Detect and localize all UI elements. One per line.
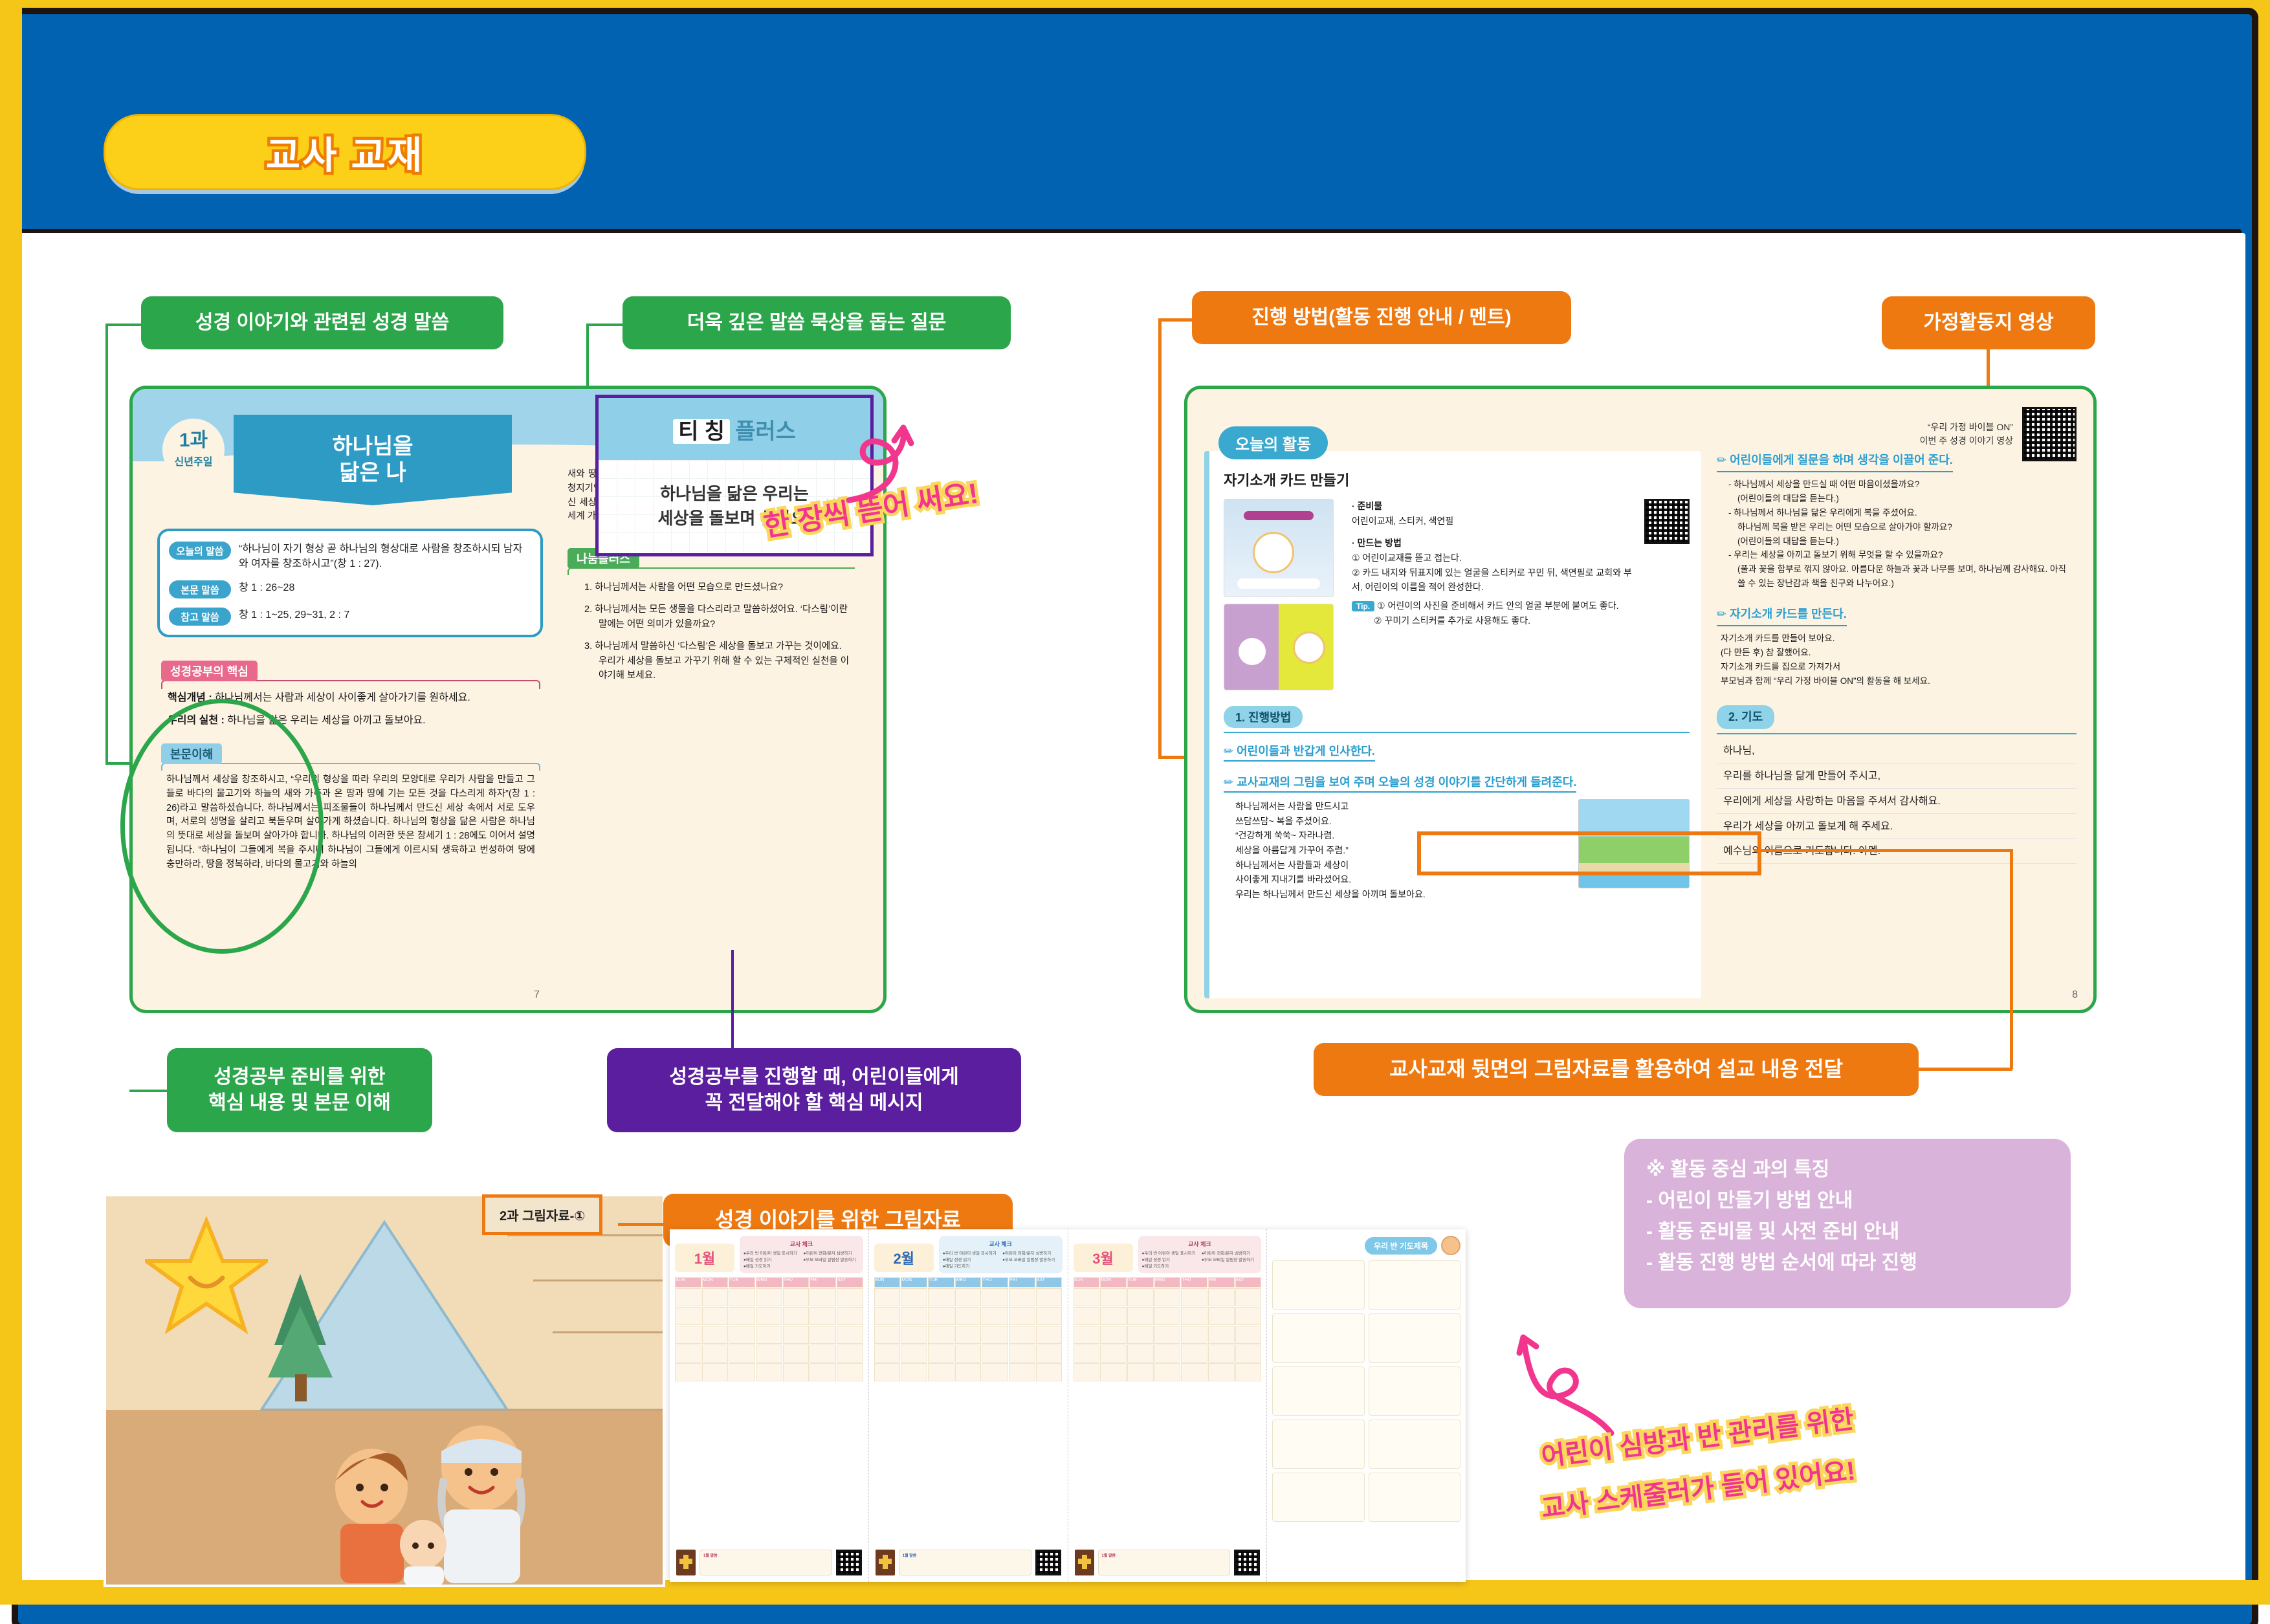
prayer-card[interactable] <box>1369 1313 1460 1363</box>
pink-arrow-icon-top <box>841 424 919 508</box>
calendar-verse-label: 1월 말씀 <box>1102 1552 1227 1558</box>
calendar-cell[interactable] <box>1036 1288 1063 1306</box>
calendar-cell[interactable] <box>1127 1307 1154 1325</box>
card-line: 자기소개 카드를 만들어 보아요. <box>1721 631 2077 646</box>
calendar-cell[interactable] <box>874 1363 901 1381</box>
calendar-cell[interactable] <box>1208 1288 1235 1306</box>
calendar-cell[interactable] <box>928 1344 954 1363</box>
weekday-head: THU <box>982 1277 1008 1288</box>
activity-thumbnails <box>1224 499 1340 690</box>
prayer-card[interactable] <box>1272 1366 1364 1416</box>
calendar-cell[interactable] <box>901 1326 927 1344</box>
weekday-head: SAT <box>1235 1277 1262 1288</box>
calendar-cell[interactable] <box>837 1307 863 1325</box>
share-question: 1. 하나님께서는 사람을 어떤 모습으로 만드셨나요? <box>584 580 852 595</box>
prayer-card[interactable] <box>1369 1473 1460 1522</box>
verse-row: 오늘의 말씀 “하나님이 자기 형상 곧 하나님의 형상대로 사람을 창조하시되… <box>169 542 531 571</box>
calendar-cell[interactable] <box>729 1344 755 1363</box>
story-line: 쓰담쓰담~ 복을 주셨어요. <box>1235 814 1568 829</box>
calendar-cell[interactable] <box>702 1307 729 1325</box>
story-line: 하나님께서는 사람을 만드시고 <box>1235 799 1568 814</box>
leader-line-bible-verse-v <box>105 324 108 763</box>
left-yellow-strip <box>0 0 22 1605</box>
right-column-guide: ✏ 어린이들에게 질문을 하며 생각을 이끌어 준다. - 하나님께서 세상을 … <box>1717 451 2077 998</box>
calendar-cell[interactable] <box>1036 1307 1063 1325</box>
pencil-icon: ✏ <box>1717 454 1726 466</box>
calendar-cell[interactable] <box>810 1288 836 1306</box>
leader-line-bible-verse <box>105 324 142 326</box>
calendar-cell[interactable] <box>1154 1344 1181 1363</box>
calendar-cell[interactable] <box>1181 1307 1207 1325</box>
calendar-cell[interactable] <box>901 1288 927 1306</box>
calendar-cell[interactable] <box>675 1344 701 1363</box>
calendar-cell[interactable] <box>1074 1344 1100 1363</box>
calendar-cell[interactable] <box>1154 1326 1181 1344</box>
card-line: 자기소개 카드를 집으로 가져가서 <box>1721 660 2077 674</box>
calendar-cell[interactable] <box>702 1344 729 1363</box>
calendar-cell[interactable] <box>1127 1288 1154 1306</box>
tip-label: Tip. <box>1352 601 1374 611</box>
share-question: 2. 하나님께서는 모든 생물을 다스리라고 말씀하셨어요. ‘다스림’이란 말… <box>584 602 852 631</box>
weekday-head: SUN <box>1074 1277 1100 1288</box>
calendar-cell[interactable] <box>1009 1307 1035 1325</box>
calendar-cell[interactable] <box>928 1288 954 1306</box>
card-line: 부모님과 함께 “우리 가정 바이블 ON”의 활동을 해 보세요. <box>1721 674 2077 688</box>
check-item: ●어린이 전화/문자 심방하기 <box>1002 1251 1058 1257</box>
calendar-month-page: 1월 교사 체크 ●우리 반 어린이 생일 표시하기 ●매일 성경 읽기 ●매일… <box>670 1229 869 1582</box>
prayer-card[interactable] <box>1369 1260 1460 1310</box>
calendar-cell[interactable] <box>1208 1326 1235 1344</box>
calendar-cell[interactable] <box>1100 1363 1127 1381</box>
calendar-cell[interactable] <box>783 1288 810 1306</box>
calendar-cell[interactable] <box>1074 1307 1100 1325</box>
verse-row: 참고 말씀 창 1 : 1~25, 29~31, 2 : 7 <box>169 608 531 626</box>
calendar-cell[interactable] <box>955 1326 982 1344</box>
weekday-head: TUE <box>928 1277 954 1288</box>
bible-picture-resource <box>104 1194 665 1587</box>
page-title: 교사 교재 <box>104 114 586 190</box>
calendar-cell[interactable] <box>783 1326 810 1344</box>
card-line: (다 만든 후) 참 잘했어요. <box>1721 646 2077 660</box>
activity-feature-item: - 어린이 만들기 방법 안내 <box>1646 1185 2049 1216</box>
callout-progress-method: 진행 방법(활동 진행 안내 / 멘트) <box>1192 291 1571 344</box>
qr-code-calendar[interactable] <box>1234 1550 1260 1575</box>
calendar-month-page: 2월 교사 체크 ●우리 반 어린이 생일 표시하기 ●매일 성경 읽기 ●매일… <box>869 1229 1068 1582</box>
calendar-cell[interactable] <box>702 1288 729 1306</box>
prayer-line: 우리가 세상을 아끼고 돌보게 해 주세요. <box>1717 814 2077 839</box>
method-label: · 만드는 방법 <box>1352 536 1633 551</box>
leader-line-question <box>586 324 623 326</box>
weekday-head: SAT <box>1036 1277 1063 1288</box>
calendar-cell[interactable] <box>1100 1344 1127 1363</box>
calendar-cell[interactable] <box>810 1326 836 1344</box>
calendar-check-title: 교사 체크 <box>1142 1240 1258 1248</box>
calendar-cell[interactable] <box>783 1363 810 1381</box>
calendar-cell[interactable] <box>729 1363 755 1381</box>
calendar-cell[interactable] <box>1181 1288 1207 1306</box>
lesson-title-line2: 닮은 나 <box>332 460 413 487</box>
prayer-line: 우리를 하나님을 닮게 만들어 주시고, <box>1717 763 2077 789</box>
calendar-cell[interactable] <box>1235 1288 1262 1306</box>
pencil-icon: ✏ <box>1224 776 1233 789</box>
calendar-cell[interactable] <box>756 1307 782 1325</box>
teaching-plus-title-main: 티 칭 <box>673 419 730 444</box>
calendar-cell[interactable] <box>729 1326 755 1344</box>
check-item: ●매일 성경 읽기 <box>1142 1257 1198 1264</box>
lesson-subtitle: 신년주일 <box>175 453 213 468</box>
calendar-cell[interactable] <box>928 1326 954 1344</box>
check-item: ●매일 기도하기 <box>744 1264 799 1270</box>
calendar-cell[interactable] <box>783 1344 810 1363</box>
prayer-card[interactable] <box>1369 1366 1460 1416</box>
weekday-head: FRI <box>810 1277 836 1288</box>
card-sample-front-image <box>1224 499 1334 597</box>
check-item: ●우리 반 어린이 생일 표시하기 <box>1142 1251 1198 1257</box>
calendar-cell[interactable] <box>756 1288 782 1306</box>
avatar <box>1441 1236 1460 1255</box>
right-page-number: 8 <box>2072 989 2078 1001</box>
qr-caption-line2: 이번 주 성경 이야기 영상 <box>1920 434 2013 448</box>
check-item: ●어린이 전화/문자 심방하기 <box>1202 1251 1257 1257</box>
prayer-card[interactable] <box>1272 1420 1364 1469</box>
weekday-head: FRI <box>1208 1277 1235 1288</box>
calendar-cell[interactable] <box>1154 1288 1181 1306</box>
method-step: ② 카드 내지와 뒤표지에 있는 얼굴을 스티커로 꾸민 뒤, 색연필로 교회와… <box>1352 565 1633 595</box>
prayer-card[interactable] <box>1272 1313 1364 1363</box>
calendar-cell[interactable] <box>810 1344 836 1363</box>
calendar-cell[interactable] <box>955 1363 982 1381</box>
highlight-rect-story-head <box>1417 831 1761 875</box>
guide-question: (풀과 꽃을 함부로 꺾지 않아요. 아름다운 하늘과 꽃과 나무를 보며, 하… <box>1728 562 2077 591</box>
leader-line-prep-core <box>129 1090 167 1092</box>
calendar-cell[interactable] <box>955 1344 982 1363</box>
weekday-head: MON <box>901 1277 927 1288</box>
calendar-cell[interactable] <box>1181 1363 1207 1381</box>
activity-feature-title: ※ 활동 중심 과의 특징 <box>1646 1154 2049 1185</box>
callout-home-activity-video: 가정활동지 영상 <box>1882 296 2095 349</box>
verse-text-ref: 창 1 : 1~25, 29~31, 2 : 7 <box>239 608 531 626</box>
weekday-head: FRI <box>1009 1277 1035 1288</box>
lesson-title-ribbon: 하나님을 닮은 나 <box>234 415 512 505</box>
calendar-cell[interactable] <box>1235 1344 1262 1363</box>
prayer-card[interactable] <box>1272 1260 1364 1310</box>
guide-question: 하나님께 복을 받은 우리는 어떤 모습으로 살아가야 할까요? <box>1728 520 2077 534</box>
calendar-cell[interactable] <box>675 1288 701 1306</box>
calendar-check-title: 교사 체크 <box>943 1240 1059 1248</box>
activity-feature-item: - 활동 진행 방법 순서에 따라 진행 <box>1646 1247 2049 1278</box>
activity-title: 자기소개 카드 만들기 <box>1224 469 1690 490</box>
calendar-cell[interactable] <box>729 1288 755 1306</box>
calendar-cell[interactable] <box>1208 1344 1235 1363</box>
highlight-circle-core <box>120 699 324 954</box>
calendar-cell[interactable] <box>955 1288 982 1306</box>
callout-deep-question: 더욱 깊은 말씀 묵상을 돕는 질문 <box>623 296 1011 349</box>
bible-icon <box>676 1550 696 1575</box>
calendar-grid: SUN MON TUE WED THU FRI SAT <box>1074 1277 1262 1381</box>
calendar-cell[interactable] <box>1208 1363 1235 1381</box>
calendar-month-label: 3월 <box>1074 1244 1133 1272</box>
calendar-cell[interactable] <box>756 1344 782 1363</box>
weekday-head: THU <box>783 1277 810 1288</box>
check-item: ●우리 반 어린이 생일 표시하기 <box>943 1251 998 1257</box>
bible-icon <box>876 1550 895 1575</box>
calendar-cell[interactable] <box>1181 1326 1207 1344</box>
teaching-plus-header: 티 칭플러스 <box>599 398 870 460</box>
check-item: ●매일 성경 읽기 <box>744 1257 799 1264</box>
qr-code-calendar[interactable] <box>836 1550 862 1575</box>
prayer-line: 우리에게 세상을 사랑하는 마음을 주셔서 감사해요. <box>1717 789 2077 814</box>
step2-label: 2. 기도 <box>1717 705 1774 729</box>
guide-question: (어린이들의 대답을 듣는다.) <box>1728 492 2077 506</box>
guide-question: - 하나님께서 세상을 만드실 때 어떤 마음이셨을까요? <box>1728 477 2077 492</box>
check-item: ●부모 모바일 알림장 발송하기 <box>1202 1257 1257 1264</box>
tip-item: ① 어린이의 사진을 준비해서 카드 안의 얼굴 부분에 붙여도 좋다. <box>1377 600 1618 611</box>
calendar-cell[interactable] <box>1235 1307 1262 1325</box>
check-item: ●매일 기도하기 <box>1142 1264 1198 1270</box>
calendar-cell[interactable] <box>901 1307 927 1325</box>
callout-key-message: 성경공부를 진행할 때, 어린이들에게 꼭 전달해야 할 핵심 메시지 <box>607 1048 1021 1132</box>
check-item: ●어린이 전화/문자 심방하기 <box>803 1251 859 1257</box>
weekday-head: MON <box>1100 1277 1127 1288</box>
check-item: ●매일 성경 읽기 <box>943 1257 998 1264</box>
today-activity-tag: 오늘의 활동 <box>1218 426 1328 459</box>
prayer-line: 하나님, <box>1717 738 2077 763</box>
leader-line-progress <box>1158 318 1193 322</box>
prayer-card[interactable] <box>1272 1473 1364 1522</box>
calendar-cell[interactable] <box>1074 1363 1100 1381</box>
calendar-cell[interactable] <box>1154 1307 1181 1325</box>
lesson-number: 1과 <box>179 431 208 450</box>
calendar-cell[interactable] <box>837 1326 863 1344</box>
calendar-month-label: 1월 <box>675 1244 734 1272</box>
teaching-plus-title: 티 칭플러스 <box>673 413 796 445</box>
activity-feature-item: - 활동 준비물 및 사전 준비 안내 <box>1646 1216 2049 1247</box>
weekday-head: SUN <box>874 1277 901 1288</box>
check-item: ●매일 기도하기 <box>943 1264 998 1270</box>
teaching-plus-title-sub: 플러스 <box>735 419 796 444</box>
calendar-cell[interactable] <box>1100 1326 1127 1344</box>
weekday-head: THU <box>1181 1277 1207 1288</box>
core-tag: 성경공부의 핵심 <box>161 661 258 681</box>
weekday-head: SAT <box>837 1277 863 1288</box>
calendar-cell[interactable] <box>874 1288 901 1306</box>
left-page-number: 7 <box>534 989 540 1001</box>
calendar-grid: SUN MON TUE WED THU FRI SAT <box>874 1277 1063 1381</box>
verse-tag-today: 오늘의 말씀 <box>169 542 231 560</box>
calendar-cell[interactable] <box>982 1363 1008 1381</box>
verse-box: 오늘의 말씀 “하나님이 자기 형상 곧 하나님의 형상대로 사람을 창조하시되… <box>157 529 543 637</box>
calendar-cell[interactable] <box>729 1307 755 1325</box>
pencil-head-story: ✏ 교사교재의 그림을 보여 주며 오늘의 성경 이야기를 간단하게 들려준다. <box>1224 773 1576 793</box>
weekday-head: TUE <box>729 1277 755 1288</box>
leader-line-back-picture-v <box>2010 849 2013 1069</box>
calendar-verse-label: 1월 말씀 <box>703 1552 828 1558</box>
calendar-grid: SUN MON TUE WED THU FRI SAT <box>675 1277 863 1381</box>
calendar-cell[interactable] <box>1009 1363 1035 1381</box>
calendar-cell[interactable] <box>675 1326 701 1344</box>
calendar-cell[interactable] <box>1127 1344 1154 1363</box>
guide-question: (어린이들의 대답을 듣는다.) <box>1728 534 2077 549</box>
core-section-header: 성경공부의 핵심 <box>161 661 540 681</box>
calendar-cell[interactable] <box>874 1344 901 1363</box>
calendar-cell[interactable] <box>1127 1363 1154 1381</box>
calendar-cell[interactable] <box>1208 1307 1235 1325</box>
weekday-head: WED <box>1154 1277 1181 1288</box>
calendar-cell[interactable] <box>1036 1363 1063 1381</box>
calendar-cell[interactable] <box>874 1307 901 1325</box>
calendar-cell[interactable] <box>837 1344 863 1363</box>
calendar-cell[interactable] <box>1181 1344 1207 1363</box>
page-title-text: 교사 교재 <box>266 125 424 179</box>
check-item: ●부모 모바일 알림장 발송하기 <box>1002 1257 1058 1264</box>
calendar-cell[interactable] <box>1009 1344 1035 1363</box>
weekday-head: WED <box>756 1277 782 1288</box>
qr-code-making-video[interactable] <box>1644 499 1690 544</box>
callout-bible-verse: 성경 이야기와 관련된 성경 말씀 <box>141 296 503 349</box>
calendar-cell[interactable] <box>928 1307 954 1325</box>
calendar-cell[interactable] <box>1127 1326 1154 1344</box>
pencil-head-make-card: ✏ 자기소개 카드를 만든다. <box>1717 605 1847 626</box>
leader-line-back-picture-h <box>1754 849 2012 852</box>
verse-tag-main: 본문 말씀 <box>169 580 231 598</box>
bible-icon <box>1075 1550 1094 1575</box>
calendar-cell[interactable] <box>901 1344 927 1363</box>
calendar-check-title: 교사 체크 <box>744 1240 859 1248</box>
pencil-head-questions: ✏ 어린이들에게 질문을 하며 생각을 이끌어 준다. <box>1717 451 1953 472</box>
weekday-head: SUN <box>675 1277 701 1288</box>
calendar-month-page: 3월 교사 체크 ●우리 반 어린이 생일 표시하기 ●매일 성경 읽기 ●매일… <box>1068 1229 1268 1582</box>
calendar-cell[interactable] <box>955 1307 982 1325</box>
calendar-cell[interactable] <box>1074 1326 1100 1344</box>
pencil-head-greeting: ✏ 어린이들과 반갑게 인사한다. <box>1224 742 1375 762</box>
step1-label: 1. 진행방법 <box>1224 706 1303 728</box>
calendar-cell[interactable] <box>1100 1307 1127 1325</box>
verse-text-today: “하나님이 자기 형상 곧 하나님의 형상대로 사람을 창조하시되 남자와 여자… <box>239 542 531 571</box>
calendar-cell[interactable] <box>1074 1288 1100 1306</box>
tip-item: ② 꾸미기 스티커를 추가로 사용해도 좋다. <box>1352 613 1633 628</box>
weekday-head: TUE <box>1127 1277 1154 1288</box>
calendar-cell[interactable] <box>928 1363 954 1381</box>
materials-label: · 준비물 <box>1352 499 1633 514</box>
calendar-cell[interactable] <box>1036 1326 1063 1344</box>
qr-caption-line1: “우리 가정 바이블 ON” <box>1920 421 2013 434</box>
qr-code-calendar[interactable] <box>1035 1550 1061 1575</box>
calendar-cell[interactable] <box>1009 1288 1035 1306</box>
share-section: 나눔플러스 1. 하나님께서는 사람을 어떤 모습으로 만드셨나요? 2. 하나… <box>567 548 855 691</box>
core-concept-text: 하나님께서는 사람과 세상이 사이좋게 살아가기를 원하세요. <box>212 692 470 703</box>
calendar-cell[interactable] <box>1100 1288 1127 1306</box>
calendar-cell[interactable] <box>810 1363 836 1381</box>
callout-prep-core: 성경공부 준비를 위한 핵심 내용 및 본문 이해 <box>167 1048 432 1132</box>
calendar-cell[interactable] <box>756 1363 782 1381</box>
card-sample-inside-image <box>1224 604 1334 690</box>
weekday-head: MON <box>702 1277 729 1288</box>
lesson-badge: 1과 신년주일 <box>162 419 225 481</box>
calendar-cell[interactable] <box>901 1363 927 1381</box>
guide-question: - 우리는 세상을 아끼고 돌보기 위해 무엇을 할 수 있을까요? <box>1728 548 2077 562</box>
calendar-cell[interactable] <box>837 1363 863 1381</box>
calendar-cell[interactable] <box>1154 1363 1181 1381</box>
check-item: ●부모 모바일 알림장 발송하기 <box>803 1257 859 1264</box>
calendar-cell[interactable] <box>783 1307 810 1325</box>
activity-panel: 오늘의 활동 자기소개 카드 만들기 <box>1204 451 1701 998</box>
leader-line-key-message <box>731 950 734 1048</box>
calendar-cell[interactable] <box>1036 1344 1063 1363</box>
calendar-cell[interactable] <box>675 1363 701 1381</box>
right-textbook-page: “우리 가정 바이블 ON” 이번 주 성경 이야기 영상 오늘의 활동 자기소… <box>1184 386 2097 1013</box>
pencil-icon: ✏ <box>1224 745 1233 758</box>
calendar-cell[interactable] <box>982 1307 1008 1325</box>
story-line: 우리는 하나님께서 만드신 세상을 아끼며 돌보아요. <box>1235 887 1568 902</box>
leader-line-picture-label <box>618 1223 663 1226</box>
calendar-cell[interactable] <box>982 1326 1008 1344</box>
calendar-cell[interactable] <box>810 1307 836 1325</box>
calendar-cell[interactable] <box>1235 1363 1262 1381</box>
method-step: ① 어린이교재를 뜯고 접는다. <box>1352 551 1633 565</box>
prayer-board-page: 우리 반 기도제목 <box>1267 1229 1466 1582</box>
guide-question: - 하나님께서 하나님을 닮은 우리에게 복을 주셨어요. <box>1728 506 2077 520</box>
calendar-cell[interactable] <box>982 1344 1008 1363</box>
verse-row: 본문 말씀 창 1 : 26~28 <box>169 580 531 598</box>
calendar-verse-label: 1월 말씀 <box>903 1552 1028 1558</box>
core-rule <box>161 680 540 689</box>
share-question: 3. 하나님께서 말씀하신 ‘다스림’은 세상을 돌보고 가꾸는 것이에요. 우… <box>584 639 852 683</box>
calendar-cell[interactable] <box>756 1326 782 1344</box>
prayer-board-title: 우리 반 기도제목 <box>1365 1237 1437 1255</box>
callout-back-picture: 교사교재 뒷면의 그림자료를 활용하여 설교 내용 전달 <box>1314 1043 1919 1096</box>
calendar-cell[interactable] <box>837 1288 863 1306</box>
calendar-cell[interactable] <box>702 1326 729 1344</box>
verse-text-main: 창 1 : 26~28 <box>239 580 531 598</box>
family-characters <box>300 1390 579 1585</box>
calendar-cell[interactable] <box>1235 1326 1262 1344</box>
calendar-cell[interactable] <box>702 1363 729 1381</box>
leader-line-progress-v <box>1158 318 1162 758</box>
calendar-cell[interactable] <box>1009 1326 1035 1344</box>
teacher-scheduler-spread: 1월 교사 체크 ●우리 반 어린이 생일 표시하기 ●매일 성경 읽기 ●매일… <box>670 1229 1466 1582</box>
calendar-month-label: 2월 <box>874 1244 934 1272</box>
activity-feature-note: ※ 활동 중심 과의 특징 - 어린이 만들기 방법 안내 - 활동 준비물 및… <box>1624 1139 2071 1308</box>
picture-label: 2과 그림자료-① <box>482 1194 602 1235</box>
verse-tag-ref: 참고 말씀 <box>169 608 231 626</box>
pencil-icon: ✏ <box>1717 608 1726 620</box>
calendar-cell[interactable] <box>982 1288 1008 1306</box>
prayer-card[interactable] <box>1369 1420 1460 1469</box>
check-item: ●우리 반 어린이 생일 표시하기 <box>744 1251 799 1257</box>
calendar-cell[interactable] <box>874 1326 901 1344</box>
lesson-title-line1: 하나님을 <box>332 433 413 460</box>
materials-text: 어린이교재, 스티커, 색연필 <box>1352 514 1633 529</box>
calendar-cell[interactable] <box>675 1307 701 1325</box>
weekday-head: WED <box>955 1277 982 1288</box>
